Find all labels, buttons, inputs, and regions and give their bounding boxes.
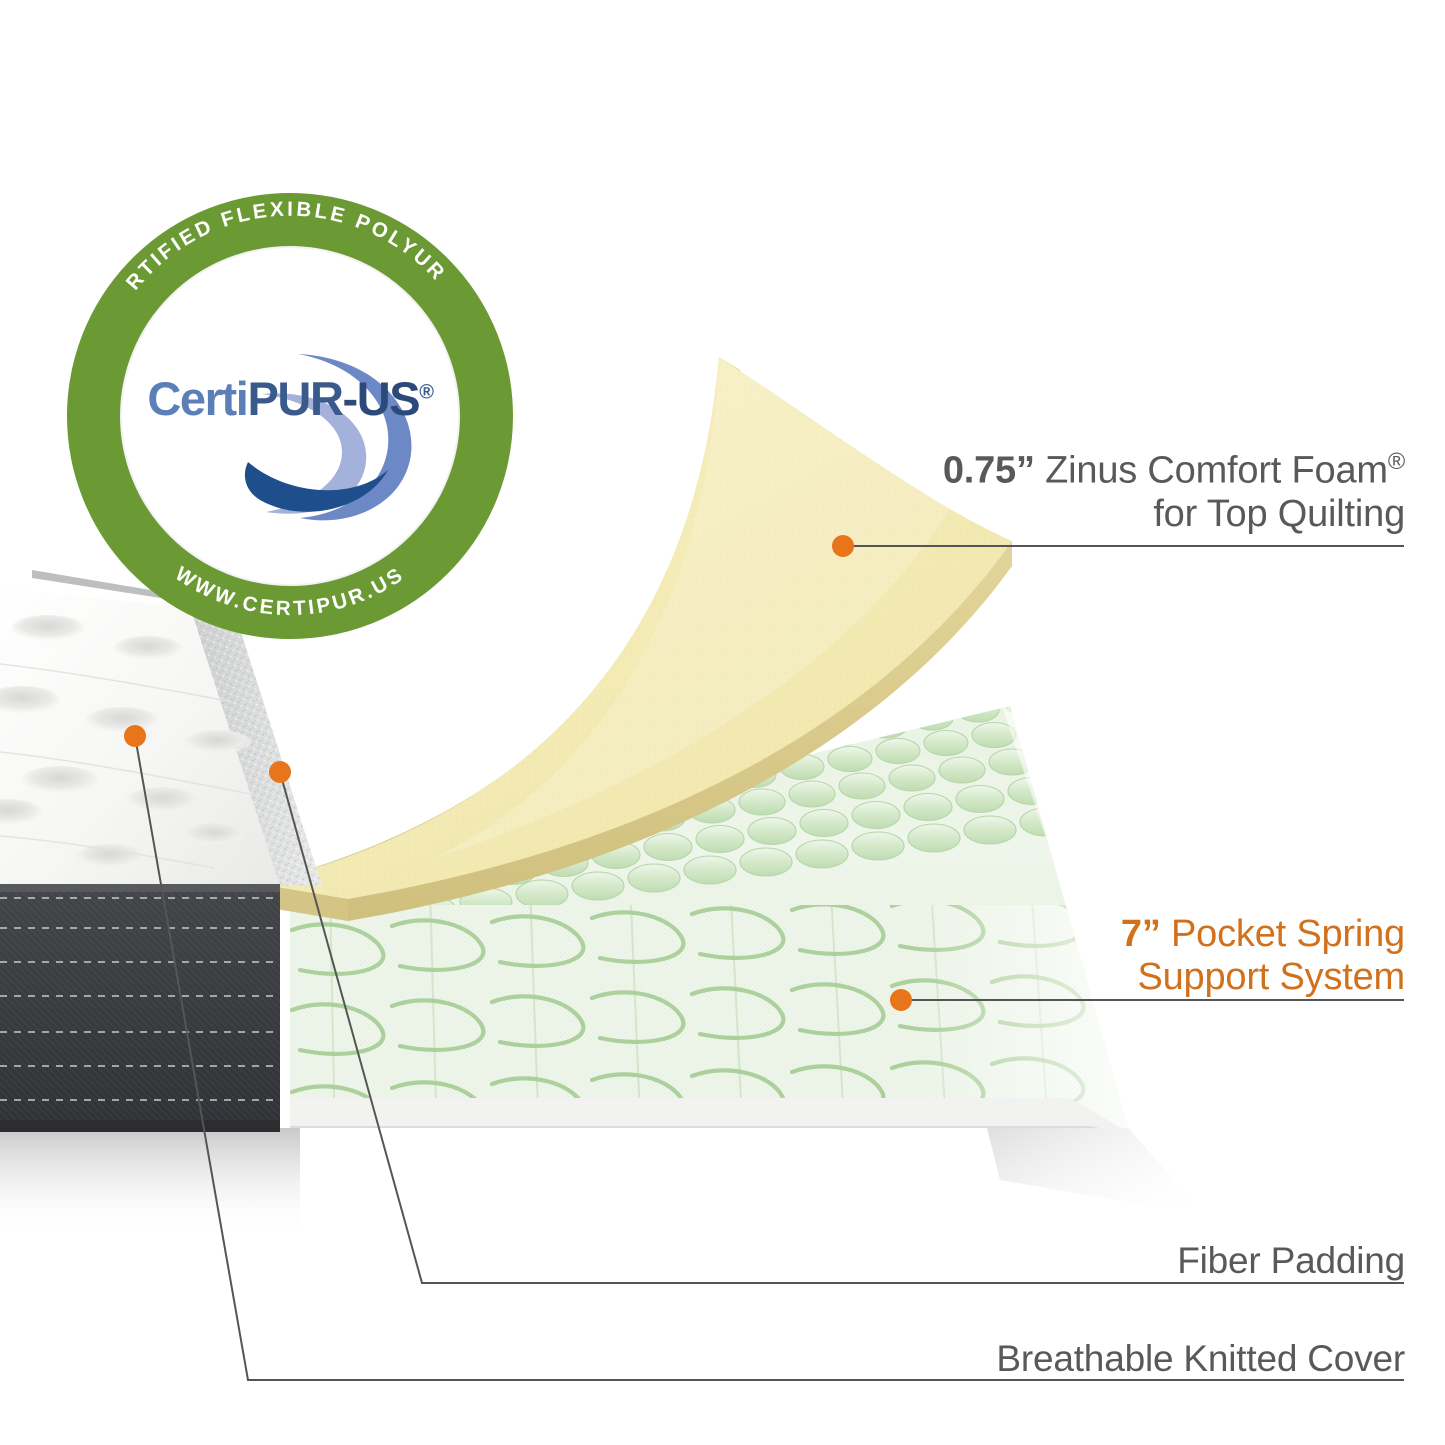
callout-comfort-foam-line1: 0.75” Zinus Comfort Foam® <box>943 448 1405 493</box>
callout-breathable-knitted-cover: Breathable Knitted Cover <box>996 1338 1405 1380</box>
dot-pocket-spring <box>890 989 912 1011</box>
infographic-canvas: CONTAINS CERTIFIED FLEXIBLE POLYURETHANE… <box>0 0 1445 1445</box>
side-panel-fabric <box>0 884 280 1132</box>
callout-comfort-foam-text: Zinus Comfort Foam <box>1035 450 1388 492</box>
badge-wordmark-certi: Certi <box>147 372 247 425</box>
callout-comfort-foam-measure: 0.75” <box>943 450 1035 492</box>
badge-registered-mark: ® <box>419 381 432 403</box>
callout-pocket-spring-text: Pocket Spring <box>1161 913 1405 955</box>
callout-comfort-foam-registered: ® <box>1388 448 1405 474</box>
callout-pocket-spring: 7” Pocket Spring Support System <box>1121 913 1405 1000</box>
callout-comfort-foam-line2: for Top Quilting <box>943 493 1405 536</box>
callout-comfort-foam: 0.75” Zinus Comfort Foam® for Top Quilti… <box>943 448 1405 536</box>
badge-wordmark: CertiPUR-US® <box>88 371 492 426</box>
callout-fiber-padding-label: Fiber Padding <box>1177 1240 1405 1282</box>
badge-wordmark-pur: PUR <box>247 372 342 425</box>
callout-pocket-spring-line1: 7” Pocket Spring <box>1121 913 1405 956</box>
dot-comfort-foam <box>832 535 854 557</box>
dot-fiber-padding <box>269 761 291 783</box>
callout-pocket-spring-measure: 7” <box>1121 913 1161 955</box>
badge-wordmark-us: -US <box>343 372 420 425</box>
certipur-us-badge: CertiPUR-US® <box>88 214 492 618</box>
callout-pocket-spring-line2: Support System <box>1121 956 1405 999</box>
callout-breathable-cover-label: Breathable Knitted Cover <box>996 1338 1405 1380</box>
callout-fiber-padding: Fiber Padding <box>1177 1240 1405 1282</box>
dot-breathable-cover <box>124 725 146 747</box>
